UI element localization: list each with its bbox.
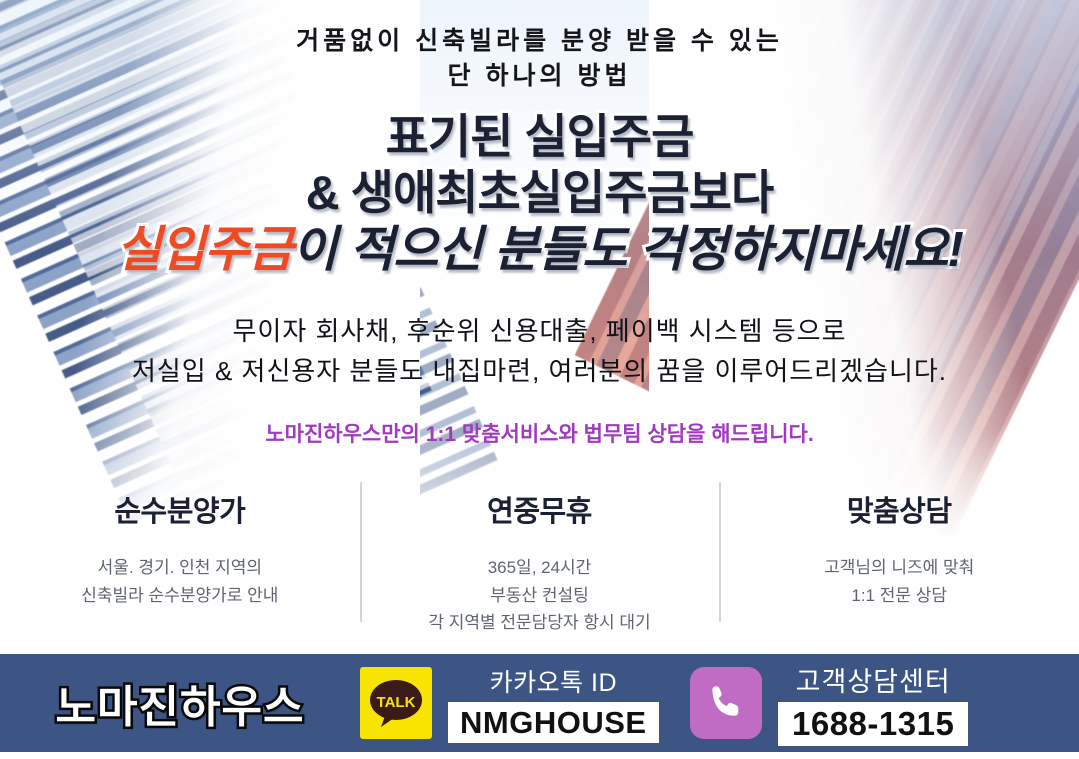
feature-desc-line: 365일, 24시간 <box>360 554 720 582</box>
body-line-1: 무이자 회사채, 후순위 신용대출, 페이백 시스템 등으로 <box>0 311 1079 351</box>
kakao-text-group: 카카오톡 ID NMGHOUSE <box>448 663 659 743</box>
feature-title: 맞춤상담 <box>719 488 1079 530</box>
advertisement-poster: 거품없이 신축빌라를 분양 받을 수 있는 단 하나의 방법 표기된 실입주금 … <box>0 0 1079 759</box>
svg-text:TALK: TALK <box>377 694 416 711</box>
hero-line-1: 표기된 실입주금 <box>0 109 1079 165</box>
phone-number-value: 1688-1315 <box>778 702 968 746</box>
hero-line-3-rest: 이 적으신 분들도 걱정하지마세요! <box>293 223 963 277</box>
kakao-id-value: NMGHOUSE <box>448 702 659 743</box>
kakao-label: 카카오톡 ID <box>490 663 617 699</box>
accent-tagline: 노마진하우스만의 1:1 맞춤서비스와 법무팀 상담을 해드립니다. <box>0 418 1079 448</box>
feature-title: 순수분양가 <box>0 488 360 530</box>
feature-column-custom-consulting: 맞춤상담 고객님의 니즈에 맞춰 1:1 전문 상담 <box>719 478 1079 609</box>
feature-columns: 순수분양가 서울. 경기. 인천 지역의 신축빌라 순수분양가로 안내 연중무휴… <box>0 478 1079 654</box>
phone-contact-block[interactable]: 고객상담센터 1688-1315 <box>690 660 1079 746</box>
kakaotalk-icon[interactable]: TALK <box>360 667 432 739</box>
phone-label: 고객상담센터 <box>796 660 951 699</box>
feature-desc-line: 1:1 전문 상담 <box>719 582 1079 610</box>
feature-desc-line: 서울. 경기. 인천 지역의 <box>0 554 360 582</box>
feature-column-pure-price: 순수분양가 서울. 경기. 인천 지역의 신축빌라 순수분양가로 안내 <box>0 478 360 609</box>
kicker-line-2: 단 하나의 방법 <box>0 59 1079 94</box>
kicker-heading: 거품없이 신축빌라를 분양 받을 수 있는 단 하나의 방법 <box>0 0 1079 93</box>
hero-highlight-text: 실입주금 <box>116 223 292 277</box>
footer-contact-bar: 노마진하우스 TALK 카카오톡 ID NMGHOUSE 고객 <box>0 654 1079 752</box>
body-copy: 무이자 회사채, 후순위 신용대출, 페이백 시스템 등으로 저실입 & 저신용… <box>0 311 1079 392</box>
feature-title: 연중무휴 <box>360 488 720 530</box>
feature-column-open-year-round: 연중무휴 365일, 24시간 부동산 컨설팅 각 지역별 전문담당자 항시 대… <box>360 478 720 637</box>
poster-content: 거품없이 신축빌라를 분양 받을 수 있는 단 하나의 방법 표기된 실입주금 … <box>0 0 1079 448</box>
feature-desc-line: 신축빌라 순수분양가로 안내 <box>0 582 360 610</box>
phone-icon[interactable] <box>690 667 762 739</box>
hero-headline: 표기된 실입주금 & 생애최초실입주금보다 실입주금이 적으신 분들도 걱정하지… <box>0 109 1079 279</box>
hero-line-3: 실입주금이 적으신 분들도 걱정하지마세요! <box>0 221 1079 279</box>
feature-desc-line: 고객님의 니즈에 맞춰 <box>719 554 1079 582</box>
feature-description: 365일, 24시간 부동산 컨설팅 각 지역별 전문담당자 항시 대기 <box>360 554 720 637</box>
brand-name: 노마진하우스 <box>0 671 360 735</box>
feature-desc-line: 각 지역별 전문담당자 항시 대기 <box>360 609 720 637</box>
feature-description: 서울. 경기. 인천 지역의 신축빌라 순수분양가로 안내 <box>0 554 360 609</box>
feature-description: 고객님의 니즈에 맞춰 1:1 전문 상담 <box>719 554 1079 609</box>
body-line-2: 저실입 & 저신용자 분들도 내집마련, 여러분의 꿈을 이루어드리겠습니다. <box>0 351 1079 391</box>
kakao-contact-block[interactable]: TALK 카카오톡 ID NMGHOUSE <box>360 663 690 743</box>
hero-line-2: & 생애최초실입주금보다 <box>0 165 1079 221</box>
feature-desc-line: 부동산 컨설팅 <box>360 582 720 610</box>
phone-text-group: 고객상담센터 1688-1315 <box>778 660 968 746</box>
kicker-line-1: 거품없이 신축빌라를 분양 받을 수 있는 <box>0 24 1079 59</box>
